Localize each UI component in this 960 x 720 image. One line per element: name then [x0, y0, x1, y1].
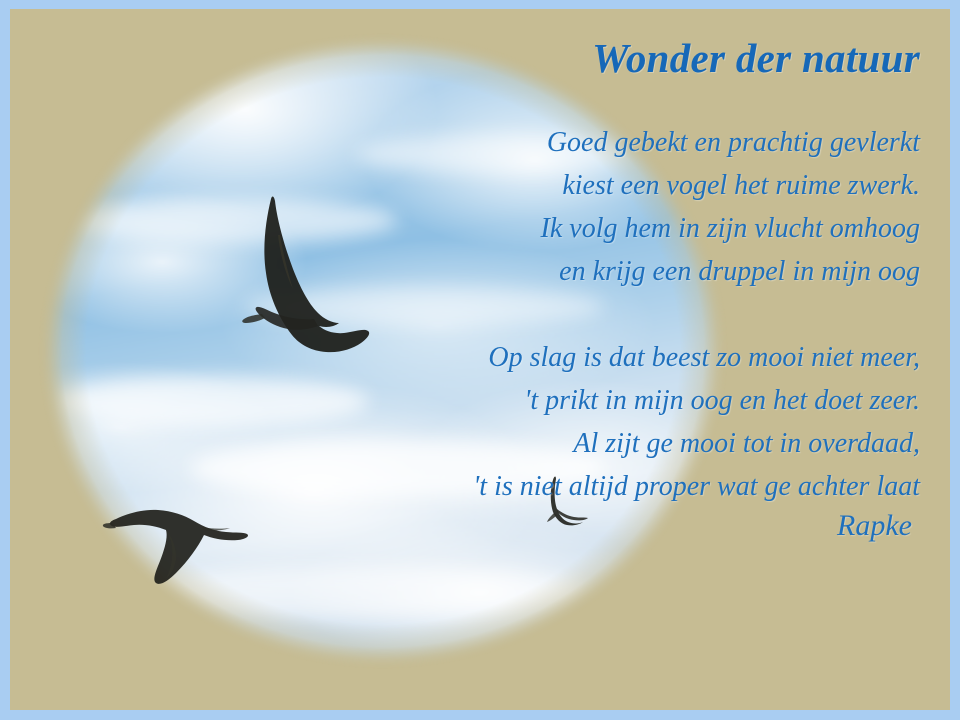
poem-line: Op slag is dat beest zo mooi niet meer,: [280, 336, 920, 379]
poem-line: en krijg een druppel in mijn oog: [280, 250, 920, 293]
poem-line: 't is niet altijd proper wat ge achter l…: [280, 465, 920, 508]
author-signature: Rapke: [837, 509, 912, 543]
poem-line: kiest een vogel het ruime zwerk.: [280, 164, 920, 207]
poem-slide: Wonder der natuur Goed gebekt en prachti…: [0, 0, 960, 720]
slide-canvas: Wonder der natuur Goed gebekt en prachti…: [10, 9, 950, 710]
poem-line: Ik volg hem in zijn vlucht omhoog: [280, 207, 920, 250]
poem-body: Goed gebekt en prachtig gevlerkt kiest e…: [280, 121, 920, 508]
text-layer: Wonder der natuur Goed gebekt en prachti…: [10, 9, 950, 710]
poem-stanza: Op slag is dat beest zo mooi niet meer, …: [280, 336, 920, 508]
poem-line: Al zijt ge mooi tot in overdaad,: [280, 422, 920, 465]
poem-line: Goed gebekt en prachtig gevlerkt: [280, 121, 920, 164]
page-title: Wonder der natuur: [592, 34, 920, 82]
poem-stanza: Goed gebekt en prachtig gevlerkt kiest e…: [280, 121, 920, 293]
poem-line: 't prikt in mijn oog en het doet zeer.: [280, 379, 920, 422]
